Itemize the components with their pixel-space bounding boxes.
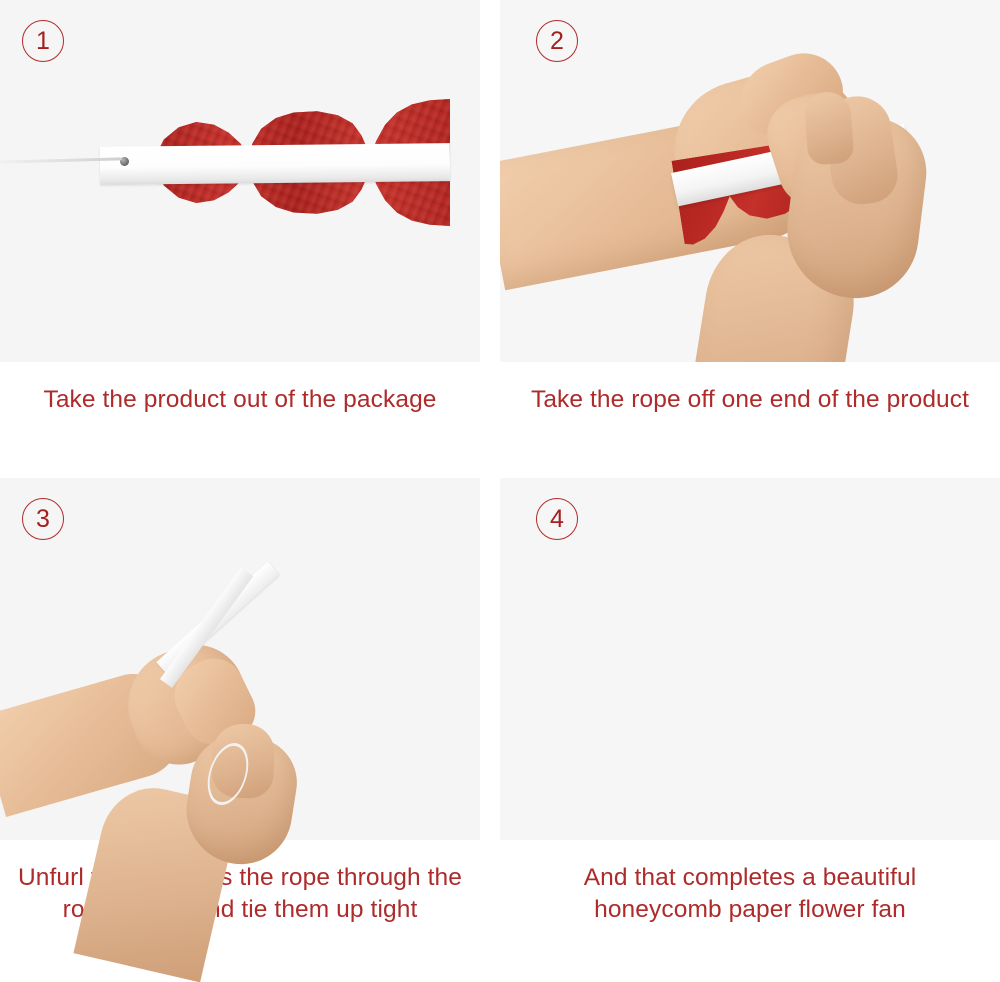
step-3-photo: 3 — [0, 478, 480, 840]
step-card-3: 3 Unfurl the fan, pass the rope through … — [0, 478, 480, 956]
instruction-steps-grid: 1 Take the product out of the package 2 — [0, 0, 1000, 956]
step-number-badge-1: 1 — [22, 20, 64, 62]
step-1-caption-zone: Take the product out of the package — [0, 362, 480, 478]
step-number-badge-4: 4 — [536, 498, 578, 540]
folded-product-illustration — [100, 95, 450, 230]
step-3-caption-zone: Unfurl the fan, pass the rope through th… — [0, 840, 480, 956]
step-number-badge-2: 2 — [536, 20, 578, 62]
step-card-2: 2 Take the rope off one end of the produ… — [500, 0, 1000, 478]
step-4-photo: 4 — [500, 478, 1000, 840]
step-number-badge-3: 3 — [22, 498, 64, 540]
step-2-caption: Take the rope off one end of the product — [531, 384, 969, 416]
right-index-finger — [804, 90, 855, 165]
step-4-caption-zone: And that completes a beautiful honeycomb… — [500, 840, 1000, 956]
step-2-caption-zone: Take the rope off one end of the product — [500, 362, 1000, 478]
step-1-caption: Take the product out of the package — [43, 384, 436, 416]
step-card-1: 1 Take the product out of the package — [0, 0, 480, 478]
step-3-caption: Unfurl the fan, pass the rope through th… — [10, 862, 470, 927]
step-4-caption: And that completes a beautiful honeycomb… — [520, 862, 980, 927]
step-1-photo: 1 — [0, 0, 480, 362]
white-card-strip — [100, 143, 450, 185]
step-2-photo: 2 — [500, 0, 1000, 362]
step-card-4: 4 And that completes a beautiful honeyco… — [500, 478, 1000, 956]
